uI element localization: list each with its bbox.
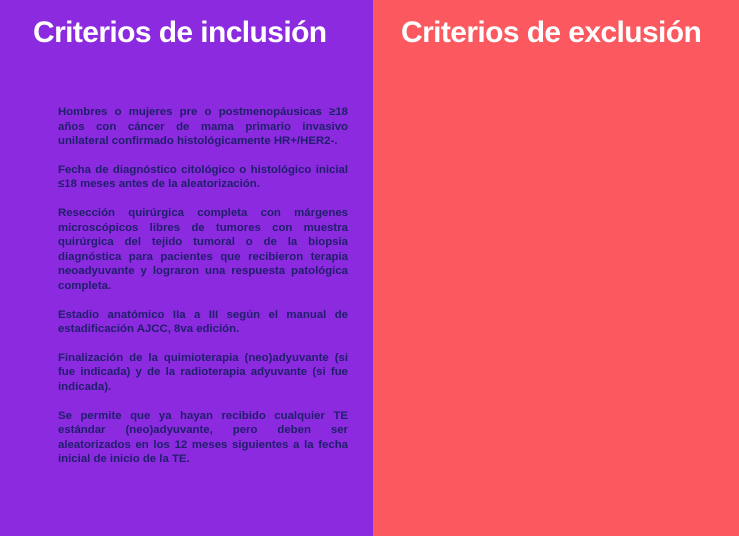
inclusion-panel-title: Criterios de inclusión	[33, 18, 327, 48]
list-item: Finalización de la quimioterapia (neo)ad…	[58, 351, 348, 395]
list-item: Hombres o mujeres pre o postmenopáusicas…	[58, 105, 348, 149]
exclusion-panel-title: Criterios de exclusión	[401, 18, 701, 48]
list-item: Fecha de diagnóstico citológico o histol…	[58, 163, 348, 192]
exclusion-panel: Criterios de exclusión Metástasis distan…	[373, 0, 739, 536]
criteria-poster: Criterios de inclusión Hombres o mujeres…	[0, 0, 739, 536]
inclusion-panel: Criterios de inclusión Hombres o mujeres…	[0, 0, 373, 536]
list-item: Se permite que ya hayan recibido cualqui…	[58, 409, 348, 467]
list-item: Resección quirúrgica completa con márgen…	[58, 206, 348, 294]
inclusion-criteria-list: Hombres o mujeres pre o postmenopáusicas…	[58, 105, 348, 467]
list-item: Estadio anatómico IIa a III según el man…	[58, 308, 348, 337]
